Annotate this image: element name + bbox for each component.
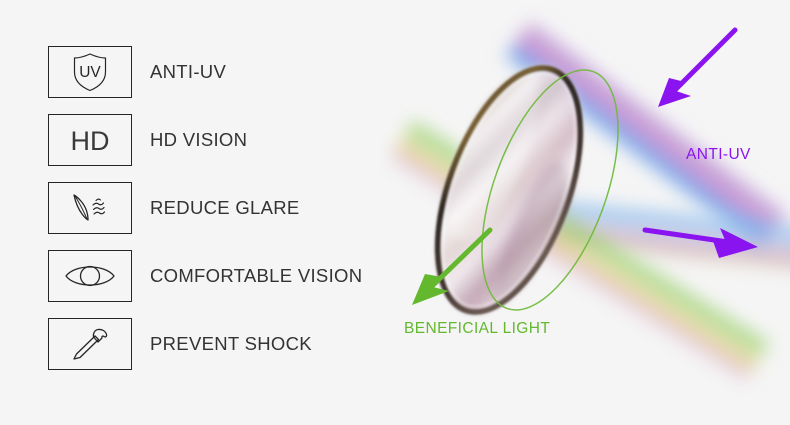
uv-shield-icon-box: UV bbox=[48, 46, 132, 98]
feature-label-hd-vision: HD VISION bbox=[150, 129, 247, 151]
hammer-icon-box bbox=[48, 318, 132, 370]
uv-incoming-arrow bbox=[658, 30, 735, 107]
uv-icon-text: UV bbox=[79, 64, 101, 81]
hammer-icon bbox=[67, 324, 113, 364]
lens-diagram-svg bbox=[380, 0, 790, 425]
glare-rays-icon-box bbox=[48, 182, 132, 234]
uv-shield-icon: UV bbox=[67, 51, 113, 93]
feature-label-comfortable-vision: COMFORTABLE VISION bbox=[150, 265, 362, 287]
hd-icon-text: HD bbox=[71, 126, 110, 156]
diagram-canvas: UV ANTI-UV HD HD VISION bbox=[0, 0, 790, 425]
glare-rays-icon bbox=[66, 188, 114, 228]
eye-icon-box bbox=[48, 250, 132, 302]
feature-label-prevent-shock: PREVENT SHOCK bbox=[150, 333, 312, 355]
hd-text-icon: HD bbox=[61, 119, 119, 161]
feature-label-reduce-glare: REDUCE GLARE bbox=[150, 197, 300, 219]
eye-icon bbox=[62, 259, 118, 293]
beam-label-anti-uv: ANTI-UV bbox=[686, 146, 751, 164]
feature-label-anti-uv: ANTI-UV bbox=[150, 61, 226, 83]
lens-light-diagram bbox=[380, 0, 790, 425]
hd-text-icon-box: HD bbox=[48, 114, 132, 166]
beam-label-beneficial-light: BENEFICIAL LIGHT bbox=[404, 320, 550, 338]
